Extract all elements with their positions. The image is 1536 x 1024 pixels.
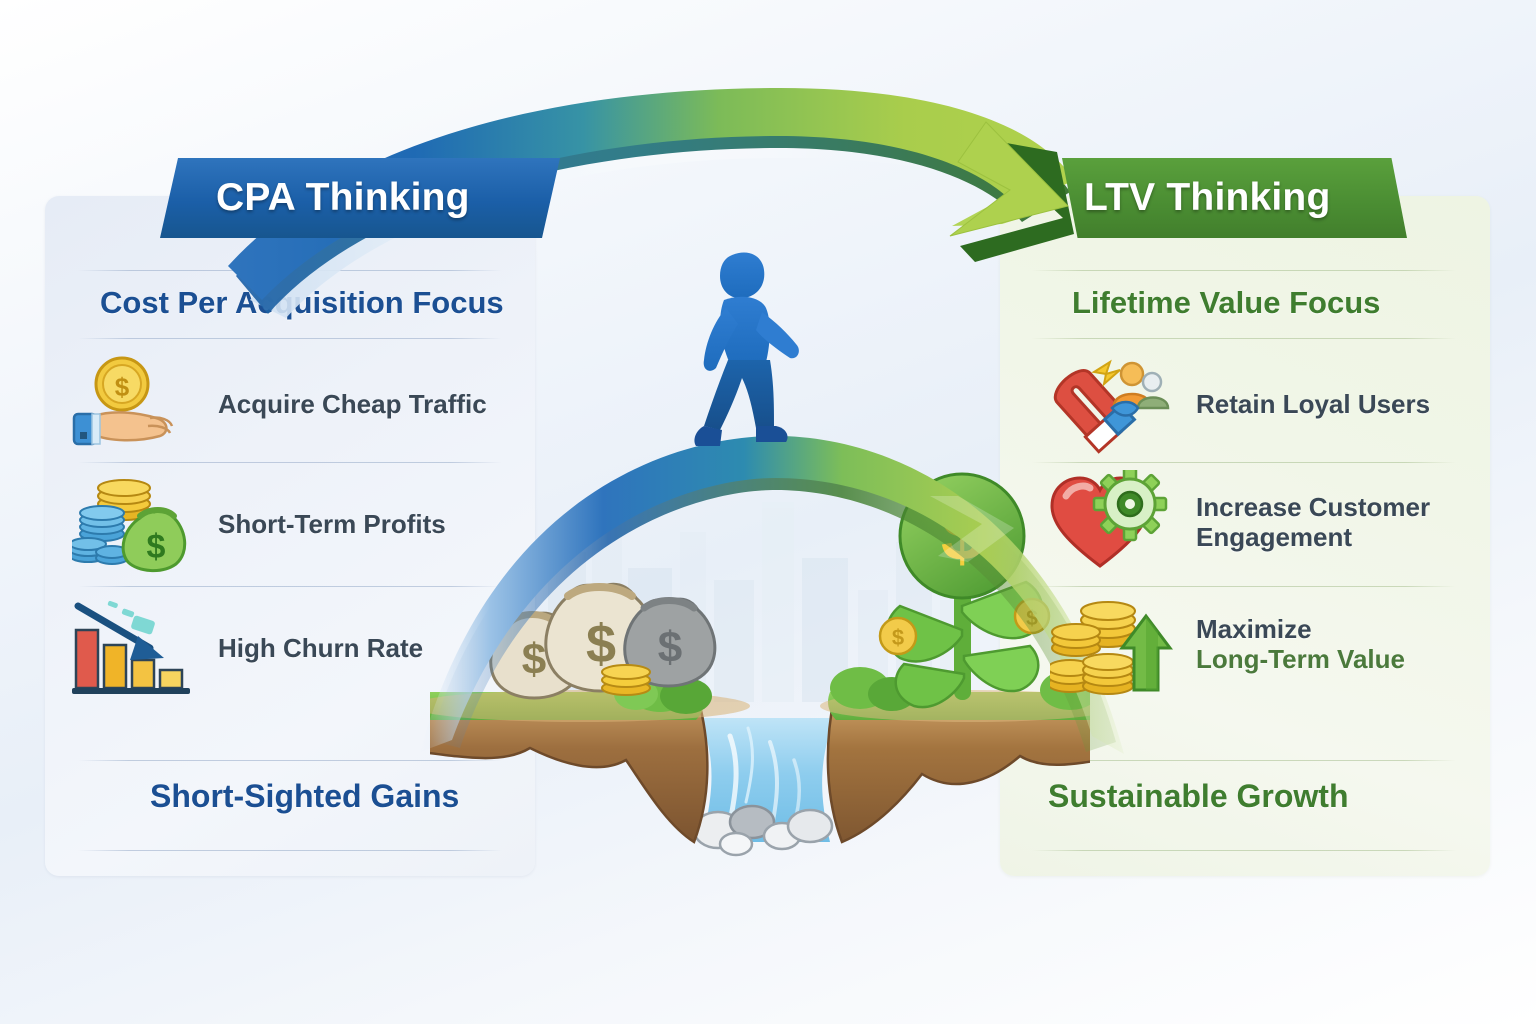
feature-label-block: Maximize Long-Term Value — [1196, 614, 1405, 674]
magnet-attracting-users-icon — [1050, 352, 1174, 456]
svg-text:$: $ — [147, 528, 166, 566]
feature-retain-loyal-users[interactable]: Retain Loyal Users — [1050, 352, 1490, 456]
feature-high-churn-rate[interactable]: High Churn Rate — [72, 596, 522, 700]
feature-label-block: Increase Customer Engagement — [1196, 492, 1430, 552]
feature-maximize-long-term-value[interactable]: Maximize Long-Term Value — [1050, 592, 1490, 696]
feature-label-line2: Engagement — [1196, 522, 1430, 552]
walking-person-silhouette-icon — [690, 250, 830, 475]
heart-with-gear-icon — [1050, 470, 1174, 574]
feature-label: Retain Loyal Users — [1196, 389, 1430, 419]
feature-acquire-cheap-traffic[interactable]: $ Acquire Cheap Traffic — [72, 352, 522, 456]
feature-label: High Churn Rate — [218, 633, 423, 663]
feature-label: Acquire Cheap Traffic — [218, 389, 487, 419]
coin-stacks-up-arrow-icon — [1050, 592, 1174, 696]
feature-label-line2: Long-Term Value — [1196, 644, 1405, 674]
ltv-banner-label: LTV Thinking — [1084, 176, 1330, 220]
ltv-thinking-banner[interactable]: LTV Thinking — [1062, 158, 1407, 238]
infographic-canvas: $ $ $ — [0, 0, 1536, 1024]
feature-label: Increase Customer — [1196, 492, 1430, 522]
declining-bar-chart-icon — [72, 596, 196, 700]
feature-label: Short-Term Profits — [218, 509, 446, 539]
cpa-thinking-banner[interactable]: CPA Thinking — [160, 158, 560, 238]
feature-increase-customer-engagement[interactable]: Increase Customer Engagement — [1050, 470, 1490, 574]
feature-short-term-profits[interactable]: $ Short-Term Profits — [72, 472, 522, 576]
feature-label: Maximize — [1196, 614, 1405, 644]
cpa-banner-label: CPA Thinking — [216, 176, 470, 220]
svg-text:$: $ — [115, 372, 130, 402]
hand-holding-coin-icon: $ — [72, 352, 196, 456]
coins-and-money-bag-icon: $ — [72, 472, 196, 576]
